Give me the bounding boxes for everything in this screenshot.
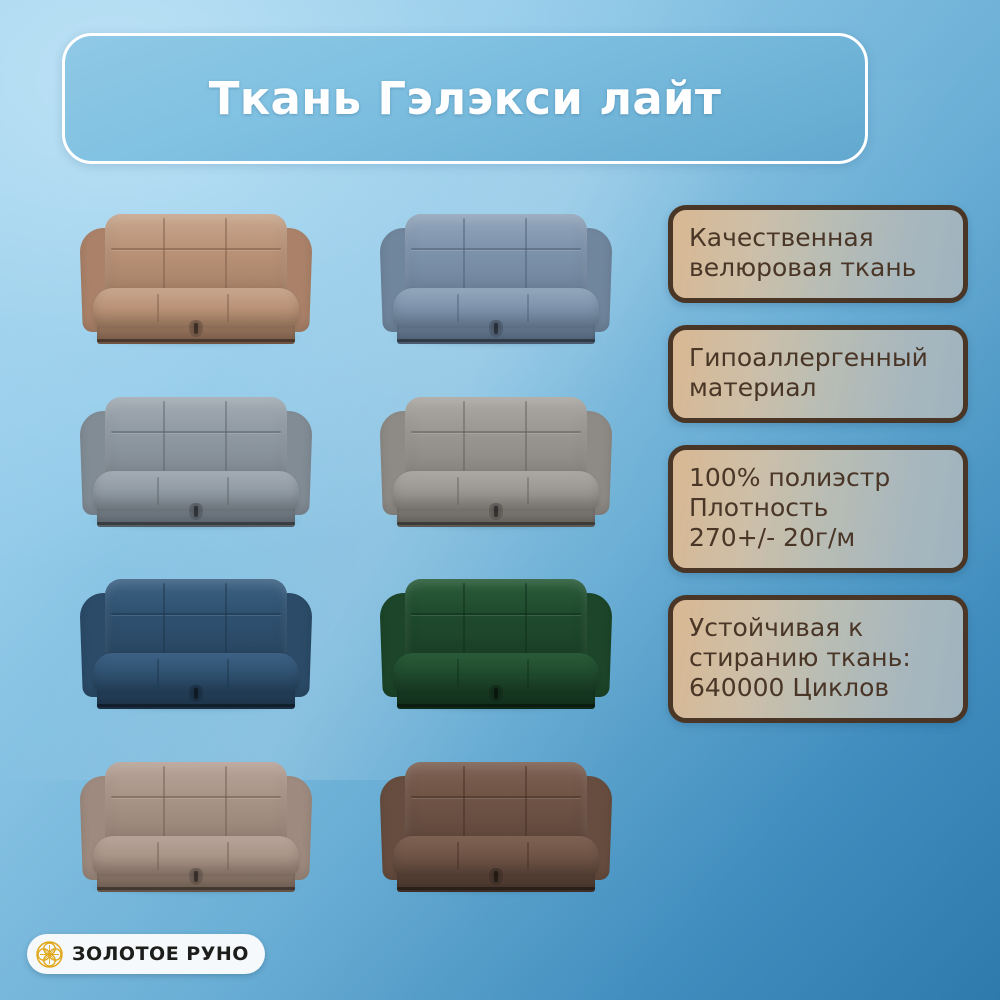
backrest-seam [411,431,581,433]
sofa-base-edge [97,339,295,342]
sofa-base-edge [97,704,295,707]
seat-seam-vertical [227,294,229,322]
title-banner: Ткань Гэлэкси лайт [62,33,868,164]
feature-card-line: 640000 Циклов [689,673,947,703]
feature-card-line: Качественная [689,223,947,253]
sofa-illustration [81,758,311,896]
rosette-emblem-icon [36,941,63,968]
sofa-illustration [81,393,311,531]
sofa-swatch-steel-blue[interactable] [346,188,646,371]
seat-seam-vertical [527,659,529,687]
backrest-seam-vertical [163,401,165,477]
seat-seam-vertical [457,477,459,505]
feature-card-line: стиранию ткань: [689,643,947,673]
feature-card-line: материал [689,373,947,403]
sofa-color-grid [46,188,646,918]
sofa-swatch-beige[interactable] [46,188,346,371]
sofa-backrest [405,762,587,848]
brand-name: ЗОЛОТОЕ РУНО [72,943,249,965]
backrest-seam [111,431,281,433]
seat-seam-vertical [227,842,229,870]
feature-card-line: велюровая ткань [689,253,947,283]
sofa-base-edge [397,887,595,890]
backrest-seam [111,613,281,615]
sofa-swatch-taupe[interactable] [46,736,346,919]
sofa-backrest [105,762,287,848]
sofa-base-edge [397,704,595,707]
backrest-seam-vertical [225,583,227,659]
seat-seam-vertical [457,842,459,870]
backrest-seam-vertical [163,766,165,842]
backrest-seam-vertical [463,218,465,294]
backrest-seam-vertical [525,583,527,659]
backrest-seam-vertical [225,766,227,842]
infographic-page: Ткань Гэлэкси лайт Качественнаявелюровая… [0,0,1000,1000]
sofa-pull-handle[interactable] [189,503,203,520]
backrest-seam [411,796,581,798]
sofa-swatch-warm-grey[interactable] [346,371,646,554]
page-title: Ткань Гэлэкси лайт [209,72,722,125]
backrest-seam [111,248,281,250]
seat-seam-vertical [527,477,529,505]
sofa-illustration [381,210,611,348]
sofa-base-edge [397,339,595,342]
feature-card-list: Качественнаявелюровая тканьГипоаллергенн… [668,205,968,745]
sofa-swatch-grey[interactable] [46,371,346,554]
sofa-illustration [381,758,611,896]
feature-card: Гипоаллергенныйматериал [668,325,968,423]
feature-card-line: Устойчивая к [689,613,947,643]
seat-seam-vertical [457,659,459,687]
seat-seam-vertical [157,294,159,322]
sofa-swatch-navy-blue[interactable] [46,553,346,736]
sofa-pull-handle[interactable] [489,503,503,520]
backrest-seam [411,613,581,615]
seat-seam-vertical [527,842,529,870]
sofa-base-edge [97,887,295,890]
backrest-seam-vertical [525,766,527,842]
feature-card: 100% полиэстрПлотность270+/- 20г/м [668,445,968,573]
feature-card-line: Плотность [689,493,947,523]
sofa-backrest [405,397,587,483]
backrest-seam-vertical [525,218,527,294]
brand-logo-badge: ЗОЛОТОЕ РУНО [27,934,265,974]
feature-card: Устойчивая кстиранию ткань:640000 Циклов [668,595,968,723]
sofa-pull-handle[interactable] [189,868,203,885]
seat-seam-vertical [527,294,529,322]
sofa-pull-handle[interactable] [189,685,203,702]
backrest-seam-vertical [463,766,465,842]
sofa-pull-handle[interactable] [189,320,203,337]
sofa-pull-handle[interactable] [489,868,503,885]
sofa-base-edge [397,522,595,525]
backrest-seam-vertical [163,583,165,659]
seat-seam-vertical [157,477,159,505]
feature-card-line: 270+/- 20г/м [689,523,947,553]
sofa-pull-handle[interactable] [489,320,503,337]
feature-card-line: 100% полиэстр [689,463,947,493]
sofa-illustration [81,575,311,713]
backrest-seam [411,248,581,250]
seat-seam-vertical [457,294,459,322]
sofa-illustration [381,393,611,531]
backrest-seam-vertical [225,401,227,477]
backrest-seam-vertical [463,583,465,659]
backrest-seam-vertical [163,218,165,294]
sofa-illustration [81,210,311,348]
seat-seam-vertical [157,659,159,687]
backrest-seam-vertical [525,401,527,477]
sofa-base-edge [97,522,295,525]
sofa-swatch-brown[interactable] [346,736,646,919]
backrest-seam-vertical [463,401,465,477]
seat-seam-vertical [157,842,159,870]
feature-card: Качественнаявелюровая ткань [668,205,968,303]
sofa-pull-handle[interactable] [489,685,503,702]
backrest-seam-vertical [225,218,227,294]
backrest-seam [111,796,281,798]
feature-card-line: Гипоаллергенный [689,343,947,373]
sofa-backrest [105,397,287,483]
sofa-swatch-dark-green[interactable] [346,553,646,736]
sofa-illustration [381,575,611,713]
seat-seam-vertical [227,659,229,687]
seat-seam-vertical [227,477,229,505]
